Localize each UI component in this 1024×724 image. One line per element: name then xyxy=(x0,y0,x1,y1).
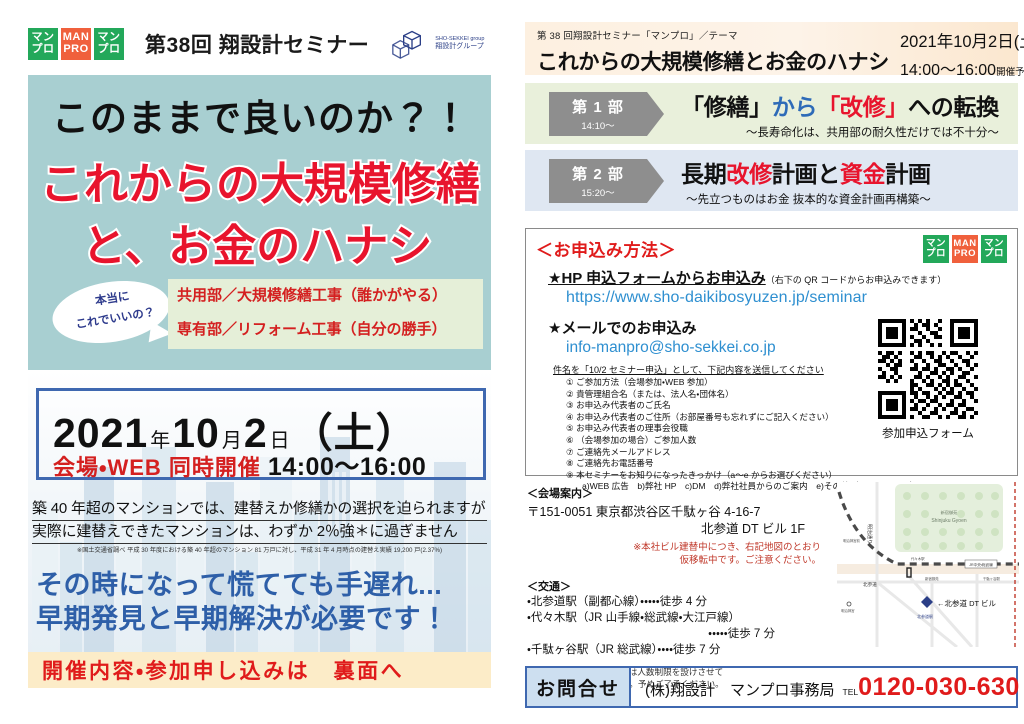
right-header-title: これからの大規模修繕とお金のハナシ xyxy=(537,46,889,76)
headline-question: このままで良いのか？！ xyxy=(52,88,470,142)
venue-note-line-2: 仮移転中です。ご注意ください。 xyxy=(527,554,821,567)
access-title: ＜交通＞ xyxy=(527,578,827,594)
contact-details: (株)翔設計 マンプロ事務局 TEL 0120-030-630 xyxy=(631,673,1020,702)
sho-logo-text: SHO-SEKKEI group 翔設計グループ xyxy=(435,36,484,52)
application-email[interactable]: info-manpro@sho-sekkei.co.jp xyxy=(566,339,776,357)
venue-mode: 会場・WEB 同時開催 xyxy=(53,455,261,480)
contact-tel-label: TEL xyxy=(843,687,859,697)
svg-text:北参道: 北参道 xyxy=(863,581,877,588)
right-header-schedule: 2021年10月2日(土) 14:00〜16:00開催予定 xyxy=(900,28,1024,80)
sho-sekkei-logo: SHO-SEKKEI group 翔設計グループ xyxy=(392,29,484,59)
urgency-line-1: その時になって慌てても手遅れ... xyxy=(36,568,486,602)
urgency-line-2: 早期発見と早期解決が必要です！ xyxy=(36,602,486,636)
email-subject-instruction: 件名を「10/2 セミナー申込」として、下記内容を送信してください xyxy=(553,363,824,376)
venue-relocation-note: ※本社ビル建替中につき、右記地図のとおり 仮移転中です。ご注意ください。 xyxy=(527,541,827,567)
part-2-title-c: 計画と xyxy=(772,161,840,187)
flyer-page: マンプロ MANPRO マンプロ 第38回 翔設計セミナー SHO-SEKKEI… xyxy=(0,0,1024,724)
scope-list: 共用部／大規模修繕工事（誰かがやる） 専有部／リフォーム工事（自分の勝手） xyxy=(168,279,483,349)
date-box: 2021年10月2日（土） 会場・WEB 同時開催14:00〜16:00 xyxy=(36,388,486,480)
manpro-logo-right-box-1: マンプロ xyxy=(923,235,949,263)
part-2-title: 長期改修計画と資金計画 xyxy=(681,155,931,189)
part-1-content: 「修繕」から「改修」への転換 〜長寿命化は、共用部の耐久性だけでは不十分〜 xyxy=(681,88,999,140)
required-item: ⑧ ご連絡先お電話番号 xyxy=(566,458,918,470)
required-item: ① ご参加方法（会場参加・WEB 参加） xyxy=(566,377,918,389)
access-row: ・北参道駅（副都心線）・・・・・徒歩 4 分 xyxy=(527,594,827,610)
stat-line-2: 実際に建替えできたマンションは、わずか 2％強＊に過ぎません xyxy=(32,521,487,544)
stat-footnote: ※国土交通省調べ 平成 30 年度における築 40 年超のマンション 81 万戸… xyxy=(32,547,487,554)
statistics-block: 築 40 年超のマンションでは、建替えか修繕かの選択を迫られますが 実際に建替え… xyxy=(32,498,487,554)
right-header-date: 2021年10月2日(土) xyxy=(900,28,1024,52)
venue-address: 〒151-0051 東京都渋谷区千駄ヶ谷 4-16-7 北参道 DT ビル 1F xyxy=(527,504,827,538)
part-1-title-b: から xyxy=(772,94,817,120)
svg-text:明治神宮前: 明治神宮前 xyxy=(843,538,861,543)
right-header-subtitle: 第 38 回翔設計セミナー「マンプロ」／テーマ xyxy=(537,28,889,42)
contact-company: (株)翔設計 マンプロ事務局 xyxy=(645,679,835,700)
list-item: 共用部／大規模修繕工事（誰かがやる） xyxy=(168,279,483,313)
manpro-logo-box-3: マンプロ xyxy=(94,28,124,60)
svg-text:千駄ヶ谷駅: 千駄ヶ谷駅 xyxy=(983,576,1001,581)
svg-text:北参道駅: 北参道駅 xyxy=(917,613,933,619)
event-time: 14:00〜16:00 xyxy=(268,453,426,481)
right-panel: 第 38 回翔設計セミナー「マンプロ」／テーマ これからの大規模修繕とお金のハナ… xyxy=(519,0,1024,724)
part-2-subtitle: 〜先立つものはお金 抜本的な資金計画再構築〜 xyxy=(681,191,931,207)
venue-map: 新宿御苑 Shinjuku Gyoen JR中央・総武線 明治通り 北参道 ←北… xyxy=(837,482,1019,647)
manpro-logo-box-1: マンプロ xyxy=(28,28,58,60)
venue-title: ＜会場案内＞ xyxy=(527,485,827,501)
contact-bar: お問合せ (株)翔設計 マンプロ事務局 TEL 0120-030-630 xyxy=(525,666,1018,708)
right-header-titles: 第 38 回翔設計セミナー「マンプロ」／テーマ これからの大規模修繕とお金のハナ… xyxy=(537,28,889,76)
list-item: 専有部／リフォーム工事（自分の勝手） xyxy=(168,313,483,347)
part-2-title-d: 資金 xyxy=(840,161,885,187)
part-1-title-d: への転換 xyxy=(908,94,999,120)
event-mode-time: 会場・WEB 同時開催14:00〜16:00 xyxy=(53,447,426,483)
svg-text:←北参道 DT ビル: ←北参道 DT ビル xyxy=(937,598,997,608)
venue-address-line-2: 北参道 DT ビル 1F xyxy=(527,521,827,538)
application-url[interactable]: https://www.sho-daikibosyuzen.jp/seminar xyxy=(566,289,867,307)
apply-mail-heading: ★メールでのお申込み xyxy=(548,317,696,338)
manpro-logo-right-box-3: マンプロ xyxy=(981,235,1007,263)
sho-cubes-icon xyxy=(392,29,432,59)
part-1-tag: 第 1 部 14:10〜 xyxy=(549,92,647,136)
part-1-time: 14:10〜 xyxy=(581,118,614,132)
stat-line-1: 築 40 年超のマンションでは、建替えか修繕かの選択を迫られますが xyxy=(32,498,487,521)
program-part-2: 第 2 部 15:20〜 長期改修計画と資金計画 〜先立つものはお金 抜本的な資… xyxy=(525,150,1018,211)
apply-hp-note: （右下の QR コードからお申込みできます） xyxy=(766,275,947,285)
header-time-value: 14:00〜16:00 xyxy=(900,62,996,79)
venue-address-line-1: 〒151-0051 東京都渋谷区千駄ヶ谷 4-16-7 xyxy=(527,505,760,519)
svg-text:代々木駅: 代々木駅 xyxy=(911,556,925,561)
access-row-continuation: ・・・・・徒歩 7 分 xyxy=(527,626,827,642)
manpro-logo-box-2: MANPRO xyxy=(61,28,91,60)
access-walk-time: ・・・・・徒歩 7 分 xyxy=(527,626,827,642)
apply-hp-label: ★HP 申込フォームからお申込み xyxy=(548,270,766,287)
manpro-logo-right: マンプロ MANPRO マンプロ xyxy=(923,235,1007,263)
required-item: ② 貴管理組合名（または、法人名・団体名） xyxy=(566,389,918,401)
qr-code-label: 参加申込フォーム xyxy=(866,425,990,441)
map-graphic: 新宿御苑 Shinjuku Gyoen JR中央・総武線 明治通り 北参道 ←北… xyxy=(837,482,1019,647)
part-2-time: 15:20〜 xyxy=(581,185,614,199)
part-2-title-e: 計画 xyxy=(885,161,930,187)
right-header-time: 14:00〜16:00開催予定 xyxy=(900,56,1024,80)
headline-main-2: と、お金のハナシ xyxy=(82,210,432,274)
manpro-logo: マンプロ MANPRO マンプロ xyxy=(28,28,124,60)
access-row: ・代々木駅（JR 山手線・総武線・大江戸線） xyxy=(527,610,827,626)
required-item: ⑨ 本セミナーをお知りになったきっかけ（a〜e からお選びください） xyxy=(566,470,918,482)
part-2-title-b: 改修 xyxy=(726,161,771,187)
svg-text:明治通り: 明治通り xyxy=(866,524,873,544)
qr-code-icon[interactable] xyxy=(878,319,978,419)
required-item: ③ お申込み代表者のご氏名 xyxy=(566,400,918,412)
part-1-title: 「修繕」から「改修」への転換 xyxy=(681,88,999,122)
urgency-message: その時になって慌てても手遅れ... 早期発見と早期解決が必要です！ xyxy=(36,568,486,636)
svg-text:JR中央・総武線: JR中央・総武線 xyxy=(969,562,993,567)
header-time-suffix: 開催予定 xyxy=(996,67,1024,78)
left-header: マンプロ MANPRO マンプロ 第38回 翔設計セミナー SHO-SEKKEI… xyxy=(28,28,484,60)
venue-note-line-1: ※本社ビル建替中につき、右記地図のとおり xyxy=(527,541,821,554)
seminar-number: 第38回 翔設計セミナー xyxy=(145,29,369,59)
program-part-1: 第 1 部 14:10〜 「修繕」から「改修」への転換 〜長寿命化は、共用部の耐… xyxy=(525,83,1018,144)
part-2-label: 第 2 部 xyxy=(572,163,624,184)
apply-hp-heading: ★HP 申込フォームからお申込み（右下の QR コードからお申込みできます） xyxy=(548,267,946,288)
manpro-logo-right-box-2: MANPRO xyxy=(952,235,978,263)
svg-text:新宿御苑: 新宿御苑 xyxy=(941,509,959,516)
venue-info: ＜会場案内＞ 〒151-0051 東京都渋谷区千駄ヶ谷 4-16-7 北参道 D… xyxy=(527,485,827,690)
headline-main-1: これからの大規模修繕 xyxy=(40,148,480,212)
svg-text:Shinjuku Gyoen: Shinjuku Gyoen xyxy=(931,518,967,524)
contact-phone-number[interactable]: 0120-030-630 xyxy=(858,673,1020,702)
required-item: ⑦ ご連絡先メールアドレス xyxy=(566,447,918,459)
svg-text:新宿御苑: 新宿御苑 xyxy=(925,576,939,581)
part-1-title-a: 「修繕」 xyxy=(681,94,772,120)
right-header-band: 第 38 回翔設計セミナー「マンプロ」／テーマ これからの大規模修繕とお金のハナ… xyxy=(525,22,1018,75)
application-title: ＜お申込み方法＞ xyxy=(536,236,676,261)
part-2-title-a: 長期 xyxy=(681,161,726,187)
back-side-banner-text: 開催内容・参加申し込みは 裏面へ xyxy=(28,655,404,685)
application-box: ＜お申込み方法＞ マンプロ MANPRO マンプロ ★HP 申込フォームからお申… xyxy=(525,228,1018,476)
contact-label: お問合せ xyxy=(527,668,631,706)
part-2-tag: 第 2 部 15:20〜 xyxy=(549,159,647,203)
part-2-content: 長期改修計画と資金計画 〜先立つものはお金 抜本的な資金計画再構築〜 xyxy=(681,155,931,207)
part-1-label: 第 1 部 xyxy=(572,96,624,117)
back-side-banner: 開催内容・参加申し込みは 裏面へ xyxy=(28,652,491,688)
required-item: ④ お申込み代表者のご住所（お部屋番号も忘れずにご記入ください） xyxy=(566,412,918,424)
left-panel: マンプロ MANPRO マンプロ 第38回 翔設計セミナー SHO-SEKKEI… xyxy=(0,0,519,724)
access-row: ・千駄ヶ谷駅（JR 総武線）・・・・徒歩 7 分 xyxy=(527,642,827,658)
svg-text:明治神宮: 明治神宮 xyxy=(841,608,855,613)
part-1-subtitle: 〜長寿命化は、共用部の耐久性だけでは不十分〜 xyxy=(681,124,999,140)
part-1-title-c: 「改修」 xyxy=(817,94,908,120)
